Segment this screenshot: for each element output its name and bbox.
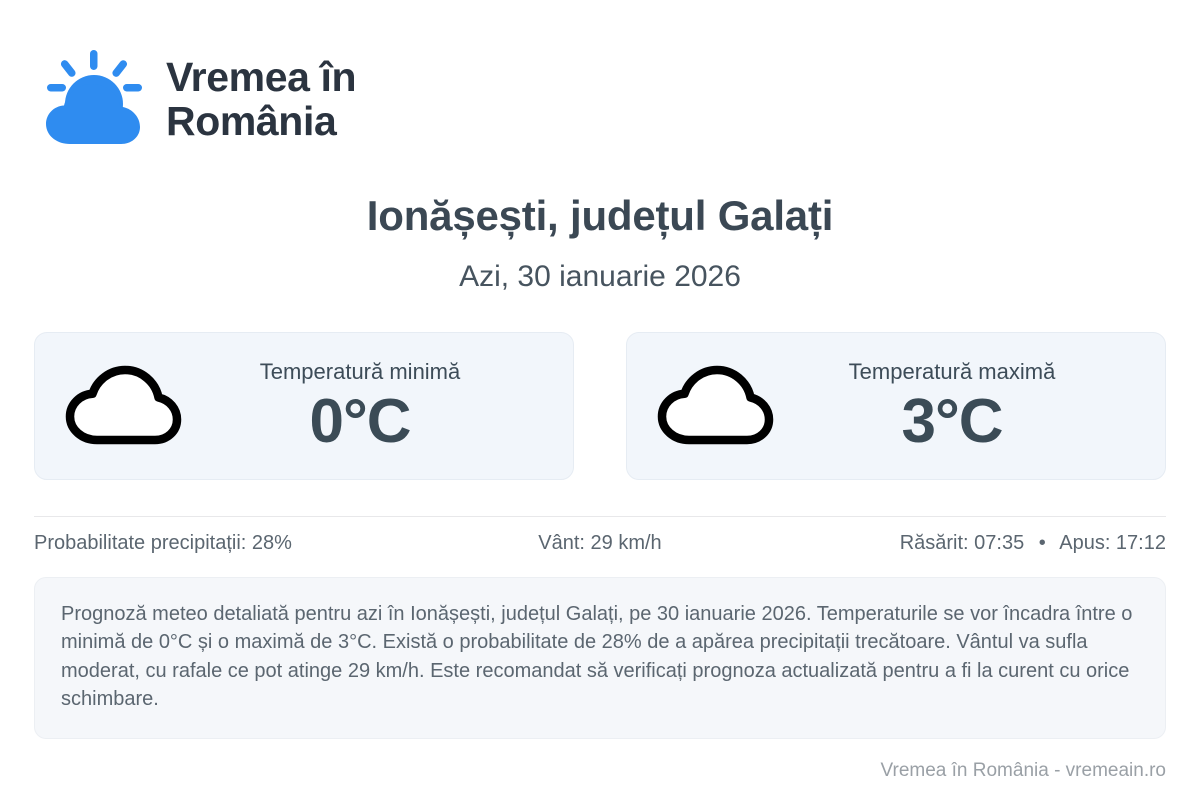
brand-name: Vremea în România <box>166 56 356 144</box>
max-temperature-label: Temperatură maximă <box>795 359 1109 385</box>
bullet-separator-icon: • <box>1030 532 1055 554</box>
precipitation-stat: Probabilitate precipitații: 28% <box>34 532 411 555</box>
stats-row: Probabilitate precipitații: 28% Vânt: 29… <box>34 517 1166 569</box>
sunset-value: Apus: 17:12 <box>1059 532 1166 554</box>
wind-stat: Vânt: 29 km/h <box>411 532 788 555</box>
weather-page: Vremea în România Ionășești, județul Gal… <box>0 0 1200 800</box>
temperature-cards: Temperatură minimă 0°C Temperatură maxim… <box>32 332 1168 480</box>
date-subtitle: Azi, 30 ianuarie 2026 <box>32 260 1168 294</box>
min-temperature-value: 0°C <box>203 390 517 453</box>
sun-behind-cloud-icon <box>40 48 148 152</box>
brand-header[interactable]: Vremea în România <box>32 0 1168 152</box>
cloud-outline-icon <box>653 360 777 452</box>
footer-credit: Vremea în România - vremeain.ro <box>881 760 1166 782</box>
sunrise-value: Răsărit: 07:35 <box>900 532 1025 554</box>
cloud-outline-icon <box>61 360 185 452</box>
min-temperature-card: Temperatură minimă 0°C <box>34 332 574 480</box>
max-temperature-value: 3°C <box>795 390 1109 453</box>
min-temperature-label: Temperatură minimă <box>203 359 517 385</box>
forecast-description: Prognoză meteo detaliată pentru azi în I… <box>34 577 1166 739</box>
sun-times-stat: Răsărit: 07:35 • Apus: 17:12 <box>789 532 1166 555</box>
page-title: Ionășești, județul Galați <box>32 192 1168 240</box>
brand-line-1: Vremea în <box>166 54 356 100</box>
brand-line-2: România <box>166 100 356 144</box>
max-temperature-card: Temperatură maximă 3°C <box>626 332 1166 480</box>
